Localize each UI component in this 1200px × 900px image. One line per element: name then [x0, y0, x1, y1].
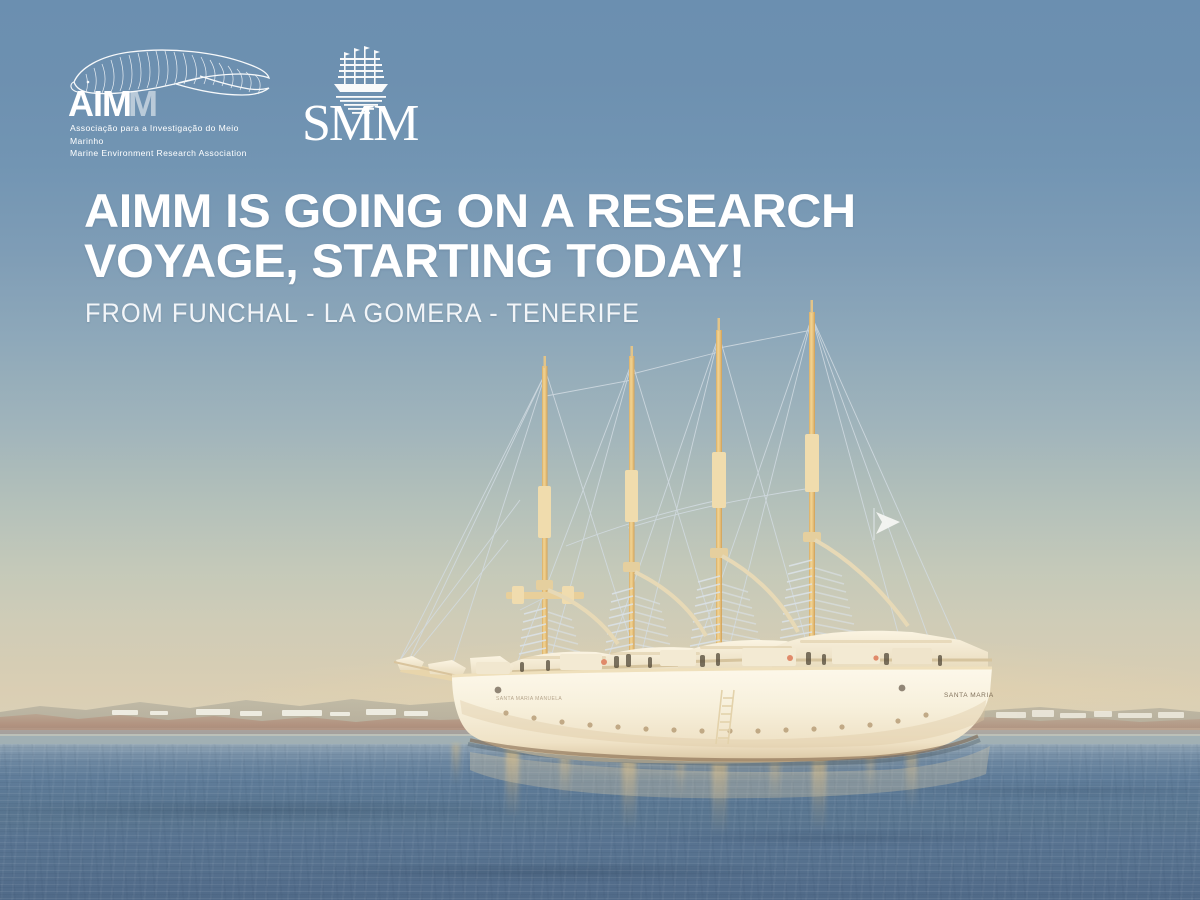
logo-lockup: AIM M Associação para a Investigação do …: [66, 38, 446, 150]
aimm-tagline-en: Marine Environment Research Association: [70, 147, 271, 160]
svg-text:M: M: [128, 83, 157, 124]
headline-line-1: AIMM IS GOING ON A RESEARCH: [84, 186, 1016, 236]
svg-text:SANTA MARIA: SANTA MARIA: [944, 692, 994, 699]
ship-flag: [874, 508, 900, 540]
aimm-wordmark: AIM M: [68, 83, 157, 124]
headline-line-2: VOYAGE, STARTING TODAY!: [84, 236, 1016, 286]
ship-hull: SANTA MARIA SANTA MARIA MANUELA: [452, 668, 994, 764]
svg-text:AIM: AIM: [68, 83, 131, 124]
headline: AIMM IS GOING ON A RESEARCH VOYAGE, STAR…: [84, 186, 1016, 286]
aimm-tagline-pt: Associação para a Investigação do Meio M…: [70, 122, 271, 147]
smm-wordmark: SMM: [302, 95, 418, 144]
svg-text:SANTA MARIA MANUELA: SANTA MARIA MANUELA: [496, 696, 562, 702]
route-subhead: FROM FUNCHAL - LA GOMERA - TENERIFE: [85, 297, 931, 329]
smm-logo[interactable]: SMM: [298, 40, 426, 144]
aimm-logo[interactable]: AIM M Associação para a Investigação do …: [66, 38, 271, 150]
aimm-tagline: Associação para a Investigação do Meio M…: [70, 122, 271, 160]
poster-canvas: SANTA MARIA SANTA MARIA MANUELA: [0, 0, 1200, 900]
